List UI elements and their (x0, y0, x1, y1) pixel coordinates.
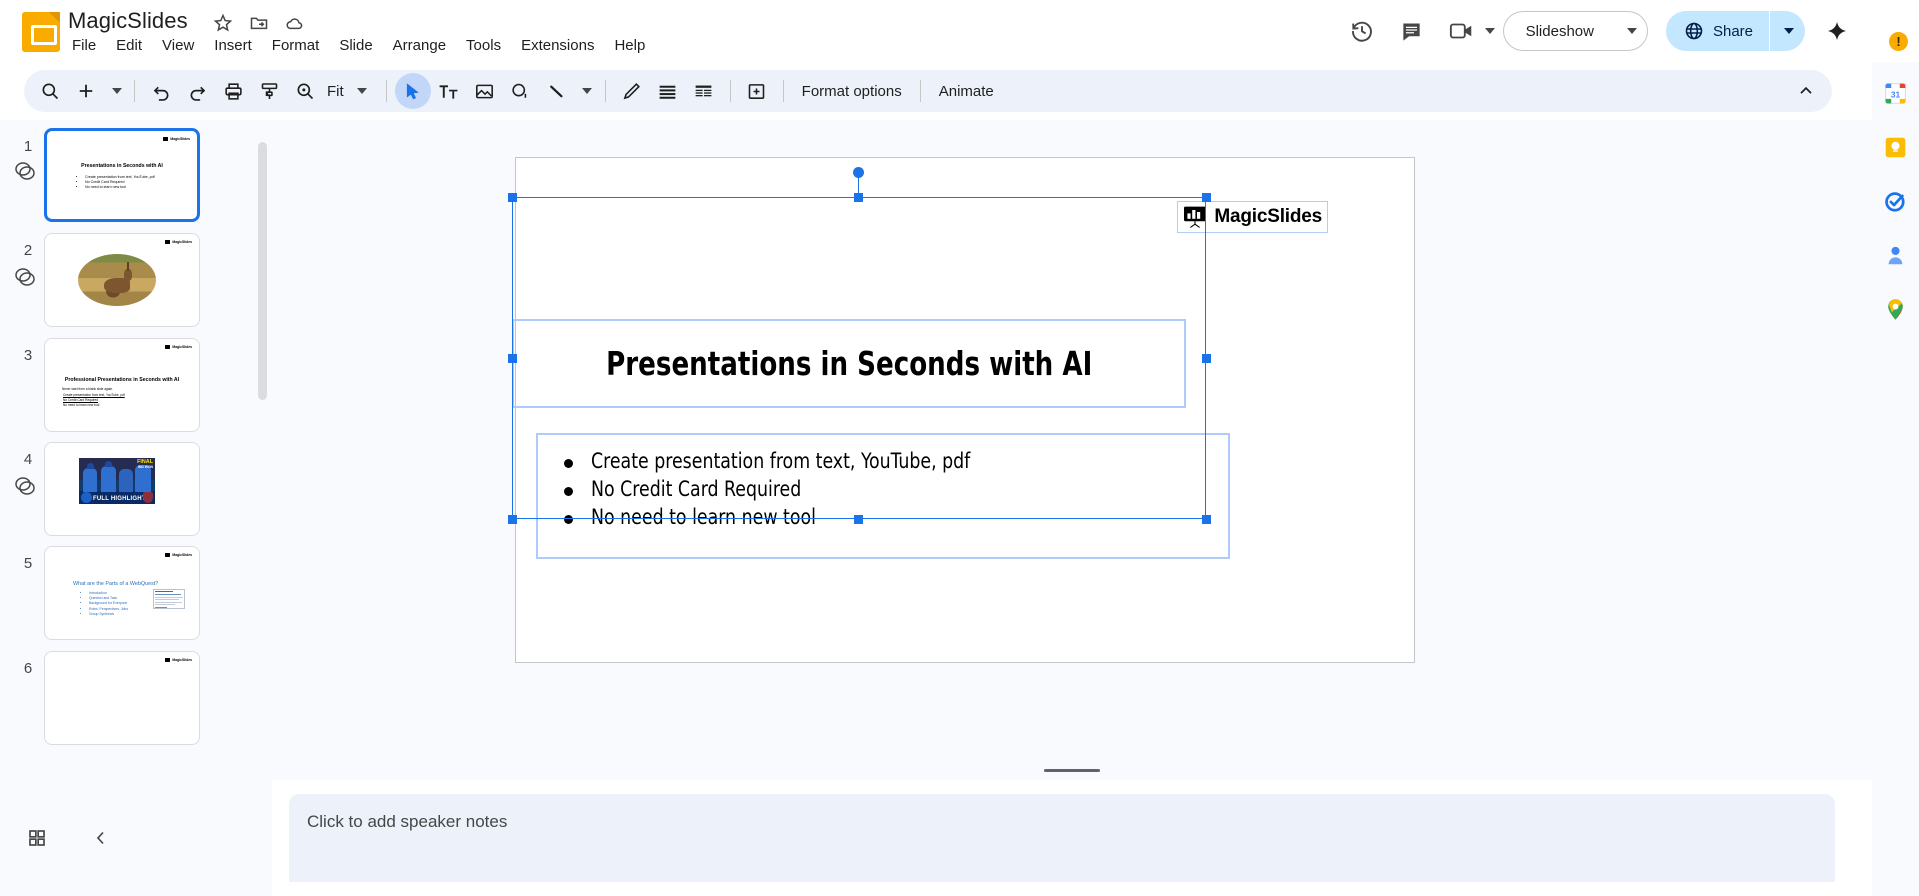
menu-edit[interactable]: Edit (106, 34, 152, 58)
avatar-warning-badge: ! (1889, 32, 1908, 51)
insert-image-icon[interactable] (467, 73, 503, 109)
slide-magicslides-logo[interactable]: MagicSlides (1177, 201, 1328, 233)
thumb-bullets: Create presentation from text, YouTube, … (63, 393, 125, 409)
slide-number: 4 (18, 451, 38, 468)
slide-thumbnail[interactable]: MagicSlides (44, 233, 200, 327)
paint-format-icon[interactable] (251, 73, 287, 109)
bullet-dot-icon (564, 487, 573, 496)
slide-editor-canvas[interactable]: MagicSlides Presentations in Seconds wit… (272, 120, 1872, 780)
redo-icon[interactable] (179, 73, 215, 109)
slide-layers-icon (12, 160, 38, 182)
selection-handle-se[interactable] (1202, 515, 1211, 524)
slide-bullet-text: No need to learn new tool (591, 505, 816, 529)
speaker-notes-pane[interactable]: Click to add speaker notes (289, 794, 1835, 882)
zoom-icon[interactable] (287, 73, 323, 109)
menu-format[interactable]: Format (262, 34, 330, 58)
presentation-board-icon (165, 345, 170, 349)
slide-bullet: No Credit Card Required (564, 477, 1228, 501)
meet-camera-icon[interactable] (1442, 11, 1482, 51)
presentation-board-icon (165, 553, 170, 557)
slide-number: 6 (18, 660, 38, 677)
version-history-icon[interactable] (1342, 11, 1382, 51)
google-slides-app: MagicSlides File Edit View Ins (0, 0, 1919, 896)
new-slide-icon[interactable] (68, 73, 104, 109)
menu-help[interactable]: Help (604, 34, 655, 58)
slide-bullet-text: No Credit Card Required (591, 477, 801, 501)
share-button-label: Share (1713, 23, 1753, 40)
cloud-saved-icon[interactable] (284, 12, 306, 34)
google-calendar-icon[interactable]: 31 (1883, 80, 1909, 106)
slide-number: 3 (18, 347, 38, 364)
thumb-logo: MagicSlides (165, 240, 192, 244)
selection-handle-ne[interactable] (1202, 193, 1211, 202)
zoom-level-label[interactable]: Fit (323, 83, 350, 100)
menu-view[interactable]: View (152, 34, 204, 58)
thumb-title: What are the Parts of a WebQuest? (73, 581, 158, 587)
star-icon[interactable] (212, 12, 234, 34)
menu-extensions[interactable]: Extensions (511, 34, 604, 58)
background-icon[interactable] (650, 73, 686, 109)
google-maps-icon[interactable] (1883, 296, 1909, 322)
selection-handle-n[interactable] (854, 193, 863, 202)
toolbar-divider (134, 80, 135, 102)
print-icon[interactable] (215, 73, 251, 109)
select-cursor-icon[interactable] (395, 73, 431, 109)
selection-handle-s[interactable] (854, 515, 863, 524)
svg-text:31: 31 (1891, 89, 1901, 99)
slide-body-placeholder[interactable]: Create presentation from text, YouTube, … (536, 433, 1230, 559)
google-contacts-icon[interactable] (1883, 242, 1909, 268)
document-title[interactable]: MagicSlides (68, 8, 188, 34)
bullet-dot-icon (564, 515, 573, 524)
speaker-notes-placeholder: Click to add speaker notes (307, 812, 1835, 832)
slideshow-options-button[interactable] (1614, 11, 1648, 51)
menu-file[interactable]: File (62, 34, 106, 58)
meet-call-button[interactable] (1442, 11, 1495, 51)
slide-logo-label: MagicSlides (1214, 206, 1322, 228)
selection-handle-nw[interactable] (508, 193, 517, 202)
google-keep-icon[interactable] (1883, 134, 1909, 160)
avatar[interactable]: ! (1869, 13, 1905, 49)
new-slide-caret-icon[interactable] (104, 73, 126, 109)
toolbar-divider-6 (920, 80, 921, 102)
slide-bullet-text: Create presentation from text, YouTube, … (591, 449, 970, 473)
share-options-button[interactable] (1769, 11, 1805, 51)
slide-number: 5 (18, 555, 38, 572)
current-slide[interactable]: MagicSlides Presentations in Seconds wit… (515, 157, 1415, 663)
toolbar-divider-3 (605, 80, 606, 102)
thumb-bullets: Create presentation from text, YouTube, … (77, 175, 155, 191)
toolbar-divider-4 (730, 80, 731, 102)
shape-icon[interactable] (503, 73, 539, 109)
google-slides-icon[interactable] (22, 12, 60, 52)
thumb-inline-screenshot (153, 589, 185, 609)
thumb-image-cricket: FINAL IND WON FULL HIGHLIGHTS (79, 458, 155, 504)
line-caret-icon[interactable] (575, 73, 597, 109)
globe-icon (1684, 21, 1704, 41)
google-workspace-side-panel: 31 (1872, 62, 1919, 896)
menu-insert[interactable]: Insert (204, 34, 262, 58)
title-icon-group (212, 12, 306, 34)
selection-handle-w[interactable] (508, 354, 517, 363)
thumb-logo: MagicSlides (165, 553, 192, 557)
toolbar-divider-2 (386, 80, 387, 102)
slide-number: 2 (18, 242, 38, 259)
thumb-title: Presentations in Seconds with AI (47, 163, 197, 169)
zoom-caret-icon[interactable] (350, 73, 372, 109)
slideshow-button[interactable]: Slideshow (1503, 11, 1614, 51)
menu-tools[interactable]: Tools (456, 34, 511, 58)
menu-slide[interactable]: Slide (329, 34, 382, 58)
line-icon[interactable] (539, 73, 575, 109)
meet-caret-icon[interactable] (1485, 28, 1495, 34)
pen-icon[interactable] (614, 73, 650, 109)
comment-icon[interactable] (1392, 11, 1432, 51)
menu-bar: File Edit View Insert Format Slide Arran… (62, 34, 655, 58)
google-tasks-icon[interactable] (1883, 188, 1909, 214)
slide-layers-icon (12, 475, 38, 497)
bullet-dot-icon (564, 459, 573, 468)
thumb-logo: MagicSlides (165, 658, 192, 662)
selection-handle-sw[interactable] (508, 515, 517, 524)
selection-handle-e[interactable] (1202, 354, 1211, 363)
slide-bullet: No need to learn new tool (564, 505, 1228, 529)
thumb-title: Professional Presentations in Seconds wi… (45, 377, 199, 383)
grid-view-button[interactable] (16, 817, 58, 859)
slide-thumbnail[interactable]: MagicSlides (44, 651, 200, 745)
notes-resize-handle[interactable] (1044, 769, 1100, 772)
move-to-folder-icon[interactable] (248, 12, 270, 34)
slide-thumbnail[interactable]: MagicSlides Presentations in Seconds wit… (44, 128, 200, 222)
presentation-board-icon (1183, 206, 1207, 228)
slide-layers-icon (12, 266, 38, 288)
format-options-button[interactable]: Format options (792, 76, 912, 107)
header-actions: Slideshow Share ! (1342, 0, 1919, 62)
slide-thumbnail[interactable]: MagicSlides Professional Presentations i… (44, 338, 200, 432)
sparkle-icon[interactable] (1817, 11, 1857, 51)
slide-number: 1 (18, 138, 38, 155)
filmstrip-scrollbar[interactable] (258, 142, 267, 400)
slide-filmstrip[interactable]: 1 MagicSlides Presentations in Seconds w… (0, 120, 272, 780)
thumb-logo: MagicSlides (165, 345, 192, 349)
thumb-logo: MagicSlides (163, 137, 190, 141)
menu-arrange[interactable]: Arrange (383, 34, 456, 58)
toolbar-divider-5 (783, 80, 784, 102)
share-button[interactable]: Share (1666, 11, 1769, 51)
transition-icon[interactable] (739, 73, 775, 109)
thumb-image-deer (78, 254, 156, 306)
layout-icon[interactable] (686, 73, 722, 109)
text-box-icon[interactable] (431, 73, 467, 109)
animate-button[interactable]: Animate (929, 76, 1004, 107)
slide-title-text: Presentations in Seconds with AI (606, 344, 1092, 383)
app-header: MagicSlides File Edit View Ins (0, 0, 1919, 62)
undo-icon[interactable] (143, 73, 179, 109)
slide-bullet: Create presentation from text, YouTube, … (564, 449, 1228, 473)
filmstrip-controls (0, 780, 272, 896)
thumb-bullets: Introduction Question and Task Backgroun… (81, 591, 128, 617)
thumb-subtitle: Never start from a blank slide again. (62, 387, 113, 392)
presentation-board-icon (163, 137, 168, 141)
presentation-board-icon (165, 658, 170, 662)
slide-thumbnail[interactable]: FINAL IND WON FULL HIGHLIGHTS (44, 442, 200, 536)
slide-thumbnail[interactable]: MagicSlides What are the Parts of a WebQ… (44, 546, 200, 640)
rotation-handle[interactable] (853, 167, 864, 178)
collapse-filmstrip-button[interactable] (80, 817, 122, 859)
main-toolbar: Fit (24, 70, 1832, 112)
slide-title-placeholder[interactable]: Presentations in Seconds with AI (512, 319, 1186, 408)
presentation-board-icon (165, 240, 170, 244)
search-icon[interactable] (32, 73, 68, 109)
collapse-menus-icon[interactable] (1788, 73, 1824, 109)
